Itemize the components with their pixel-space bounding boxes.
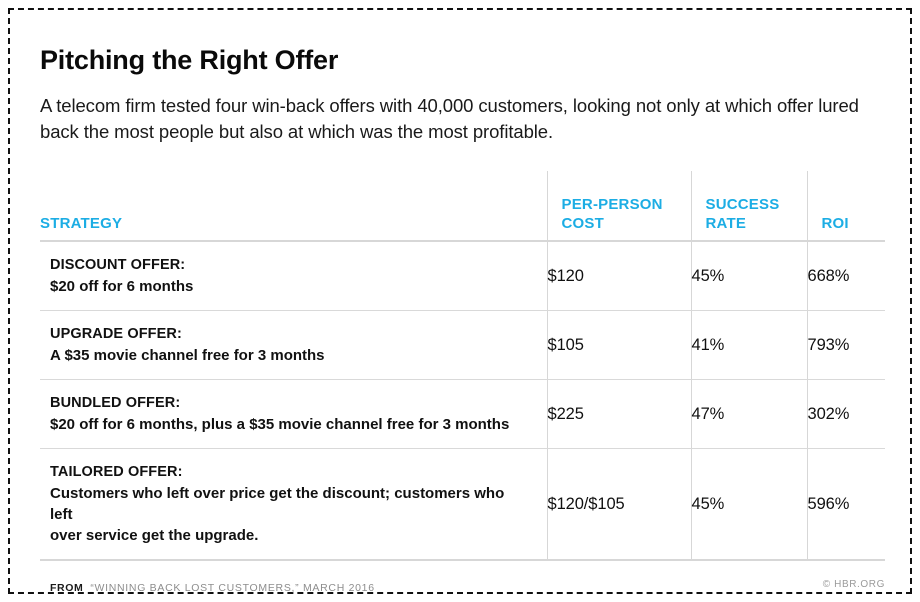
offer-description-line1: $20 off for 6 months, plus a $35 movie c… — [50, 414, 531, 435]
column-header-cost-line2: COST — [562, 215, 604, 232]
offer-description-line1: A $35 movie channel free for 3 months — [50, 345, 531, 366]
table-header: STRATEGY PER-PERSON COST SUCCESS RATE — [40, 171, 885, 241]
cell-success-rate: 45% — [691, 241, 807, 311]
content-area: Pitching the Right Offer A telecom firm … — [40, 0, 885, 598]
table-header-row: STRATEGY PER-PERSON COST SUCCESS RATE — [40, 171, 885, 241]
offers-table: STRATEGY PER-PERSON COST SUCCESS RATE — [40, 171, 885, 561]
page-subtitle: A telecom firm tested four win-back offe… — [40, 76, 870, 145]
column-header-rate: SUCCESS RATE — [691, 171, 807, 241]
table-row: TAILORED OFFER: Customers who left over … — [40, 449, 885, 561]
offer-name: UPGRADE OFFER: — [50, 324, 531, 345]
column-header-roi: ROI — [807, 171, 885, 241]
cell-per-person-cost: $120/$105 — [547, 449, 691, 561]
cell-strategy: TAILORED OFFER: Customers who left over … — [40, 449, 547, 561]
page-title: Pitching the Right Offer — [40, 0, 885, 76]
offer-description-line2: over service get the upgrade. — [50, 525, 531, 546]
offer-description-line1: Customers who left over price get the di… — [50, 483, 531, 525]
footer-from-label: FROM — [50, 582, 83, 594]
cell-roi: 793% — [807, 311, 885, 380]
footer: FROM“WINNING BACK LOST CUSTOMERS,” MARCH… — [40, 578, 885, 598]
cell-strategy: UPGRADE OFFER: A $35 movie channel free … — [40, 311, 547, 380]
cell-per-person-cost: $225 — [547, 380, 691, 449]
infographic-poster: Pitching the Right Offer A telecom firm … — [0, 0, 920, 602]
footer-source-text: “WINNING BACK LOST CUSTOMERS,” MARCH 201… — [90, 582, 374, 594]
column-header-rate-line1: SUCCESS — [706, 196, 780, 213]
offer-description-line1: $20 off for 6 months — [50, 276, 531, 297]
offer-name: BUNDLED OFFER: — [50, 393, 531, 414]
cell-roi: 668% — [807, 241, 885, 311]
cell-strategy: BUNDLED OFFER: $20 off for 6 months, plu… — [40, 380, 547, 449]
offer-name: DISCOUNT OFFER: — [50, 255, 531, 276]
cell-roi: 596% — [807, 449, 885, 561]
column-header-rate-line2: RATE — [706, 215, 747, 232]
column-header-strategy: STRATEGY — [40, 171, 547, 241]
table-row: DISCOUNT OFFER: $20 off for 6 months $12… — [40, 241, 885, 311]
cell-success-rate: 41% — [691, 311, 807, 380]
cell-roi: 302% — [807, 380, 885, 449]
footer-source: FROM“WINNING BACK LOST CUSTOMERS,” MARCH… — [50, 578, 375, 596]
column-header-cost: PER-PERSON COST — [547, 171, 691, 241]
cell-per-person-cost: $120 — [547, 241, 691, 311]
column-header-roi-label: ROI — [822, 215, 849, 232]
footer-copyright: © HBR.ORG — [823, 579, 885, 590]
offer-name: TAILORED OFFER: — [50, 462, 531, 483]
column-header-strategy-label: STRATEGY — [40, 215, 122, 232]
column-header-cost-line1: PER-PERSON — [562, 196, 663, 213]
table-body: DISCOUNT OFFER: $20 off for 6 months $12… — [40, 241, 885, 560]
table-row: UPGRADE OFFER: A $35 movie channel free … — [40, 311, 885, 380]
cell-strategy: DISCOUNT OFFER: $20 off for 6 months — [40, 241, 547, 311]
cell-success-rate: 47% — [691, 380, 807, 449]
cell-success-rate: 45% — [691, 449, 807, 561]
table-row: BUNDLED OFFER: $20 off for 6 months, plu… — [40, 380, 885, 449]
cell-per-person-cost: $105 — [547, 311, 691, 380]
